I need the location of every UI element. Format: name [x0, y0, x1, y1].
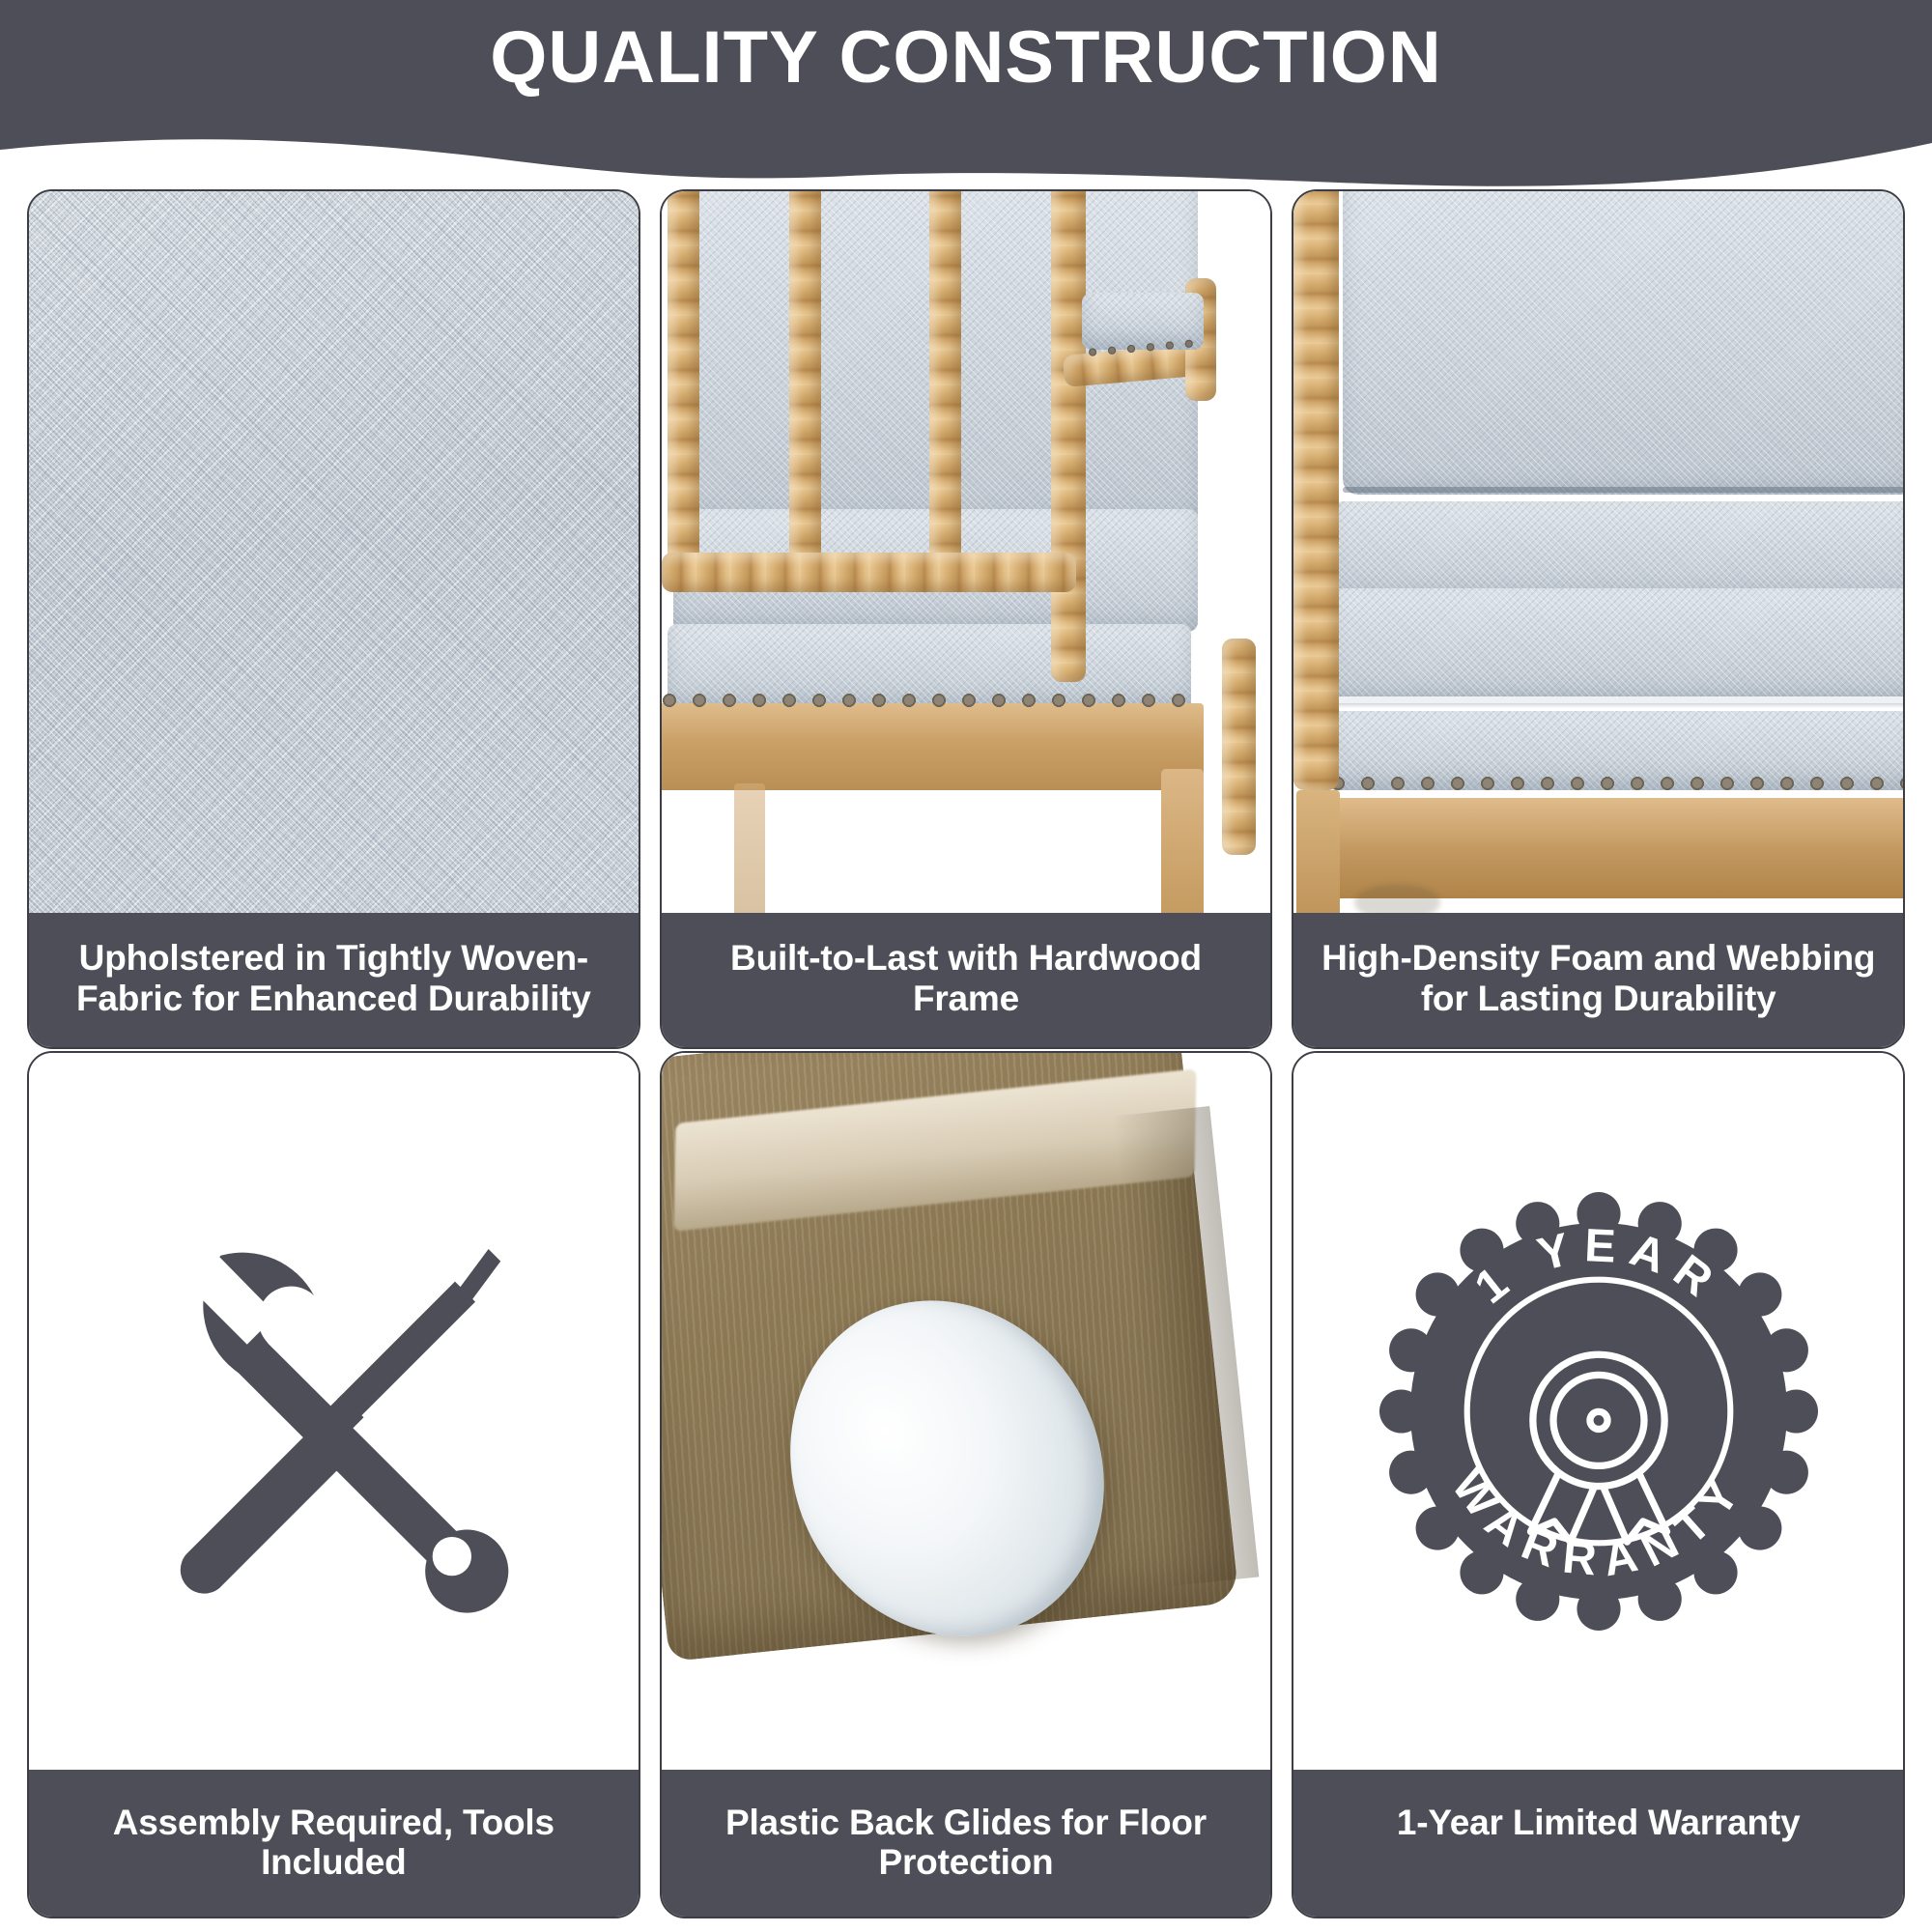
chair-spindle-4 [1051, 191, 1085, 682]
chair-spindle-rail [662, 553, 1076, 593]
chair-base-nailhead-trim [662, 693, 1192, 708]
feature-card-upholstery[interactable]: Upholstered in Tightly Woven-Fabric for … [27, 189, 640, 1049]
page-title: QUALITY CONSTRUCTION [0, 21, 1932, 95]
feature-caption-assembly: Assembly Required, Tools Included [29, 1770, 639, 1917]
warranty-icon-area: 1 YEAR WARRANTY [1293, 1053, 1903, 1770]
spindle-chair-frame-photo [662, 191, 1271, 913]
plastic-glide-closeup-photo [662, 1053, 1271, 1770]
header-banner: QUALITY CONSTRUCTION [0, 0, 1932, 193]
woven-fabric-swatch-photo [29, 191, 639, 913]
chair-spindle-3 [929, 191, 961, 574]
wrench-screwdriver-icon [130, 1208, 536, 1614]
chair-spindle-2 [789, 191, 821, 567]
chair-back-leg [734, 783, 765, 913]
feature-caption-upholstery: Upholstered in Tightly Woven-Fabric for … [29, 913, 639, 1047]
chair-front-leg [1161, 769, 1204, 913]
chair-cushion-closeup-photo [1293, 191, 1903, 913]
cushion-seam-shadow [1343, 487, 1903, 493]
closeup-seat-cushion-side [1330, 588, 1903, 704]
chair-turned-leg [1222, 639, 1256, 855]
assembly-icon-area [29, 1053, 639, 1770]
closeup-base-rail [1324, 798, 1903, 899]
feature-caption-glides: Plastic Back Glides for Floor Protection [662, 1770, 1271, 1917]
chair-frame-illustration [662, 191, 1271, 913]
fabric-texture [29, 191, 639, 913]
closeup-bobbin-post [1293, 191, 1339, 790]
feature-card-assembly[interactable]: Assembly Required, Tools Included [27, 1051, 640, 1918]
one-year-warranty-seal-icon: 1 YEAR WARRANTY [1372, 1184, 1826, 1638]
feature-caption-hardwood-frame: Built-to-Last with Hardwood Frame [662, 913, 1271, 1047]
cushion-closeup-illustration [1293, 191, 1903, 913]
closeup-back-cushion [1343, 191, 1903, 495]
feature-card-hardwood-frame[interactable]: Built-to-Last with Hardwood Frame [660, 189, 1273, 1049]
glide-illustration [662, 1053, 1271, 1770]
feature-grid: Upholstered in Tightly Woven-Fabric for … [27, 189, 1905, 1918]
closeup-left-leg [1296, 790, 1339, 913]
closeup-foot-shadow [1354, 884, 1439, 913]
feature-card-glides[interactable]: Plastic Back Glides for Floor Protection [660, 1051, 1273, 1918]
closeup-nailhead-trim [1330, 776, 1903, 791]
cushion-piping [1330, 696, 1903, 703]
feature-caption-warranty: 1-Year Limited Warranty [1293, 1770, 1903, 1917]
feature-card-foam-webbing[interactable]: High-Density Foam and Webbing for Lastin… [1292, 189, 1905, 1049]
feature-card-warranty[interactable]: 1 YEAR WARRANTY 1-Year Limited Warranty [1292, 1051, 1905, 1918]
feature-caption-foam-webbing: High-Density Foam and Webbing for Lastin… [1293, 913, 1903, 1047]
chair-spindle-1 [668, 191, 699, 581]
chair-base-rail [662, 703, 1204, 790]
